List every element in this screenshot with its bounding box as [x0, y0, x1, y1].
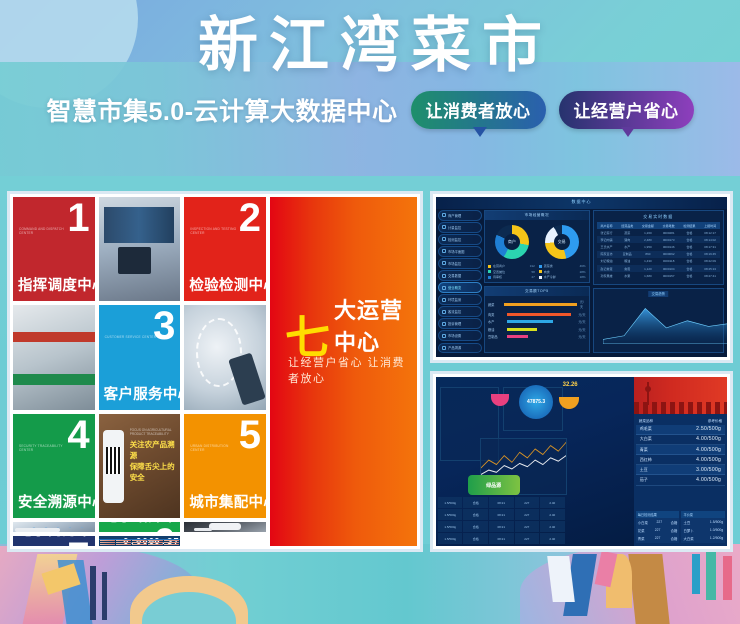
table-cell: 1.2/500g: [710, 536, 723, 541]
card-market-overview: 市场经营概况 商户 交易 在营商户312空置摊位58待审核27 蔬菜类46%肉类…: [484, 210, 590, 283]
grid-cell: 1.5/500g: [438, 509, 463, 520]
center-tile-6[interactable]: 6 ELECTRONIC SETTLEMENT CENTER 电子结算中心: [99, 522, 181, 532]
column-price: 参考价格: [708, 419, 722, 424]
table-row: 大白菜1.2/500g: [681, 534, 725, 542]
qr-caption: 关注农产品溯源 保障舌尖上的安全: [130, 439, 181, 484]
table-cell: 0000173: [659, 236, 679, 243]
center-tile-7[interactable]: 7 E-COMMERCE CENTER 电子商务中心: [13, 536, 95, 546]
detection-table: 每日检测结果 小白菜227合格花菜227合格青菜227合格: [636, 511, 680, 543]
badge-consumer: 让消费者放心: [411, 91, 546, 129]
menu-icon: [442, 310, 446, 314]
card-title: 市场经营概况: [485, 211, 589, 220]
table-cell: 0000281: [659, 229, 679, 236]
background-bottom: [0, 544, 740, 624]
menu-icon: [442, 322, 446, 326]
seven-subtitle: 让经营户省心 让消费者放心: [288, 354, 417, 386]
table-cell: 0000092: [659, 251, 679, 258]
price-table: 蔬菜品种 参考价格 鸡毛菜2.50/500g大白菜4.00/500g青菜4.00…: [636, 418, 725, 486]
dashboard-menu-item[interactable]: 市场监控: [438, 258, 482, 269]
grid-cell: 227: [515, 521, 540, 532]
tile-label: 客户服务中心: [104, 383, 181, 404]
decorative-shape: [692, 554, 700, 594]
top5-unit: 元/天: [580, 299, 586, 309]
data-table: 交易实时数据 商户名称经营品类交易金额交易笔数检测结果上报时间 张记菜行蔬菜1,…: [594, 211, 723, 284]
grid-cell: 227: [515, 497, 540, 508]
top5-name: 粮油: [488, 327, 504, 332]
dashboard-menu-item[interactable]: 营业概览: [438, 282, 482, 293]
grid-cell: 08:21: [489, 521, 514, 532]
donut-chart-merchants: 商户: [495, 225, 529, 259]
trend-sparkline: [603, 306, 727, 344]
legend-row: 肉类28%: [539, 270, 586, 274]
price-row: 土豆3.00/500g: [636, 465, 725, 475]
tile-label: 检验检测中心: [189, 274, 266, 295]
menu-icon: [442, 286, 446, 290]
table-cell: 合格: [671, 520, 678, 525]
menu-item-label: 检测监控: [448, 237, 461, 242]
legend-label: 待审核: [493, 275, 502, 279]
cheap-title: 平价菜: [681, 511, 725, 518]
table-cell: 土豆: [683, 520, 690, 525]
photo-command-center: [99, 197, 181, 301]
card-title: 交易额TOP5: [485, 287, 589, 296]
seven-centers-panel: 1 COMMAND AND DISPATCH CENTER 指挥调度中心 2 I…: [7, 191, 423, 552]
center-tile-5[interactable]: 5 URBAN DISTRIBUTION CENTER 城市集配中心: [184, 414, 266, 518]
grid-cell: 合格: [463, 521, 488, 532]
top5-row: 蔬菜元/天: [488, 299, 586, 309]
dashboard-right-region: 蔬菜品种 参考价格 鸡毛菜2.50/500g大白菜4.00/500g青菜4.00…: [634, 377, 727, 546]
menu-icon: [442, 274, 446, 278]
legend-swatch: [488, 276, 491, 279]
table-row: 土豆1.5/500g: [681, 518, 725, 526]
decorative-shape: [102, 572, 107, 620]
price-value: 2.50/500g: [696, 426, 721, 432]
table-column-header: 商户名称: [597, 222, 617, 229]
tile-english-label: CUSTOMER SERVICE CENTER: [105, 335, 157, 339]
price-row: 西红柿4.00/500g: [636, 455, 725, 465]
page-title: 新江湾菜市: [187, 14, 553, 79]
table-cell: 豆制品: [617, 251, 637, 258]
table-cell: 合格: [680, 243, 700, 250]
top5-unit: 元/天: [578, 319, 585, 324]
dashboard-menu-item[interactable]: 检测监控: [438, 234, 482, 245]
tile-english-label: INSPECTION AND TESTING CENTER: [190, 227, 242, 236]
card-trend-chart: 交易趋势: [593, 288, 724, 353]
legend-value: 312: [530, 264, 535, 268]
legend-label: 水产冷鲜: [544, 275, 556, 279]
dashboard-menu-item[interactable]: 环境监测: [438, 294, 482, 305]
menu-item-label: 营业概览: [448, 285, 461, 290]
metric-right-value: 32.26: [563, 382, 578, 388]
photo-qr-traceability: FOCUS ON AGRICULTURAL PRODUCT TRACEABILI…: [99, 414, 181, 518]
legend-value: 46%: [580, 264, 586, 268]
top5-row: 水产元/天: [488, 319, 586, 324]
photo-network-laptop: [13, 522, 95, 532]
legend-swatch: [488, 265, 491, 268]
tile-label: 安全溯源中心: [18, 491, 95, 512]
table-row: 陈家豆坊豆制品8600000092合格08:19:45: [597, 251, 720, 258]
table-row: 赵记禽蛋禽蛋1,1200000104合格08:25:13: [597, 265, 720, 272]
table-cell: 陈家豆坊: [597, 251, 617, 258]
dashboard-overview-screenshot: 数据中心 商户管理计量监控检测监控市场平面图市场监控交易数据营业概览环境监测客流…: [430, 191, 733, 363]
dashboard-menu-item[interactable]: 交易数据: [438, 270, 482, 281]
dashboard-menu-item[interactable]: 商户管理: [438, 210, 482, 221]
menu-icon: [442, 249, 446, 253]
tv-tower-icon: [647, 382, 649, 405]
table-row: 青菜227合格: [636, 534, 680, 542]
table-cell: 0000104: [659, 265, 679, 272]
legend-label: 空置摊位: [493, 270, 505, 274]
dashboard-menu-item[interactable]: 客流监控: [438, 306, 482, 317]
table-cell: 08:14:02: [700, 236, 720, 243]
table-cell: 08:19:45: [700, 251, 720, 258]
legend-label: 肉类: [544, 270, 550, 274]
table-cell: 1,430: [638, 258, 658, 265]
table-cell: 合格: [671, 536, 678, 541]
top5-name: 水产: [488, 319, 504, 324]
table-cell: 08:17:31: [700, 243, 720, 250]
legend-value: 27: [531, 275, 534, 279]
dashboard-menu-item[interactable]: 市场设置: [438, 330, 482, 341]
subtitle-row: 智慧市集5.0-云计算大数据中心 让消费者放心 让经营户省心: [46, 91, 693, 129]
grid-cell: 2.40: [540, 533, 565, 544]
legend-row: 空置摊位58: [488, 270, 535, 274]
menu-icon: [442, 237, 446, 241]
legend-row: 待审核27: [488, 275, 535, 279]
price-value: 4.00/500g: [696, 447, 721, 453]
card-realtime-table: 交易实时数据 商户名称经营品类交易金额交易笔数检测结果上报时间 张记菜行蔬菜1,…: [593, 210, 724, 285]
dashboard-title: 数据中心: [572, 199, 592, 205]
dashboard-menu-item[interactable]: 投诉管理: [438, 318, 482, 329]
legend-row: 水产冷鲜18%: [539, 275, 586, 279]
table-cell: 1.0/500g: [710, 528, 723, 533]
legend-swatch: [539, 270, 542, 273]
table-cell: 合格: [680, 251, 700, 258]
brand-logo: 绿品源: [468, 475, 520, 495]
detection-title: 每日检测结果: [636, 511, 680, 518]
price-name: 青菜: [640, 447, 648, 453]
center-tile-2[interactable]: 2 INSPECTION AND TESTING CENTER 检验检测中心: [184, 197, 266, 301]
center-tile-4[interactable]: 4 SECURITY TRACEABILITY CENTER 安全溯源中心: [13, 414, 95, 518]
table-cell: 860: [638, 251, 658, 258]
photo-market-shelf: [13, 305, 95, 409]
photo-packaging: [184, 522, 266, 532]
price-value: 3.00/500g: [696, 467, 721, 473]
table-cell: 李记肉铺: [597, 236, 617, 243]
table-row: 小白菜227合格: [636, 518, 680, 526]
donut-label: 商户: [495, 225, 529, 259]
table-body: 张记菜行蔬菜1,2600000281合格08:12:17李记肉铺猪肉2,4800…: [597, 229, 720, 279]
cheap-vegetable-table: 平价菜 土豆1.5/500g白萝卜1.0/500g大白菜1.2/500g: [681, 511, 725, 543]
menu-item-label: 市场监控: [448, 261, 461, 266]
table-cell: 1.5/500g: [710, 520, 723, 525]
table-column-header: 交易笔数: [659, 222, 679, 229]
table-cell: 花菜: [638, 528, 645, 533]
table-cell: 合格: [680, 236, 700, 243]
top5-unit: 元/天: [578, 334, 585, 339]
seven-centers-banner: 七 大运营中心 让经营户省心 让消费者放心: [270, 197, 417, 546]
dashboard-header: 数据中心: [436, 197, 727, 209]
menu-item-label: 环境监测: [448, 297, 461, 302]
grid-cell: 2.40: [540, 521, 565, 532]
menu-item-label: 产品溯源: [448, 345, 461, 350]
menu-item-label: 客流监控: [448, 309, 461, 314]
menu-item-label: 市场平面图: [448, 249, 464, 254]
table-cell: 合格: [680, 258, 700, 265]
price-row: 大白菜4.00/500g: [636, 435, 725, 445]
price-name: 西红柿: [640, 457, 652, 463]
decorative-shape: [628, 554, 669, 624]
table-cell: 0000118: [659, 258, 679, 265]
badge-merchant: 让经营户省心: [559, 91, 694, 129]
table-row: 张记菜行蔬菜1,2600000281合格08:12:17: [597, 229, 720, 236]
price-name: 大白菜: [640, 436, 652, 442]
table-cell: 合格: [680, 265, 700, 272]
table-cell: 1,680: [638, 272, 658, 279]
table-cell: 08:12:17: [700, 229, 720, 236]
center-tile-1[interactable]: 1 COMMAND AND DISPATCH CENTER 指挥调度中心: [13, 197, 95, 301]
legend-row: 蔬菜类46%: [539, 264, 586, 268]
table-cell: 张记菜行: [597, 229, 617, 236]
grid-cell: 08:21: [489, 509, 514, 520]
table-column-header: 交易金额: [638, 222, 658, 229]
price-value: 4.00/500g: [696, 457, 721, 463]
grid-cell: 08:21: [489, 533, 514, 544]
brand-logo-text: 绿品源: [486, 482, 501, 489]
menu-item-label: 投诉管理: [448, 321, 461, 326]
table-cell: 孙家果摊: [597, 272, 617, 279]
grid-cell: 合格: [463, 509, 488, 520]
decorative-shape: [90, 566, 96, 620]
table-cell: 猪肉: [617, 236, 637, 243]
table-column-header: 经营品类: [617, 222, 637, 229]
table-cell: 1,260: [638, 229, 658, 236]
legend-label: 蔬菜类: [544, 264, 553, 268]
table-cell: 08:22:09: [700, 258, 720, 265]
legend-value: 18%: [580, 275, 586, 279]
top5-bar: [507, 335, 528, 338]
table-title: 交易实时数据: [597, 214, 720, 220]
card-top5: 交易额TOP5 蔬菜元/天肉类元/天水产元/天粮油元/天豆制品元/天: [484, 286, 590, 353]
dashboard-menu-item[interactable]: 计量监控: [438, 222, 482, 233]
top5-unit: 元/天: [578, 312, 585, 317]
table-row: 李记肉铺猪肉2,4800000173合格08:14:02: [597, 236, 720, 243]
page-subtitle: 智慧市集5.0-云计算大数据中心: [46, 92, 397, 128]
menu-icon: [442, 298, 446, 302]
price-table-header: 蔬菜品种 参考价格: [636, 418, 725, 425]
dashboard-left-region: 47875.3 32.26 绿品源 1.5/500g合格08:212272.40…: [436, 377, 634, 546]
table-cell: 王氏水产: [597, 243, 617, 250]
tile-number: 3: [153, 306, 175, 346]
top5-bar: [507, 320, 553, 323]
grid-cell: 合格: [463, 533, 488, 544]
decorative-shape: [706, 552, 716, 600]
table-cell: 刘记粮油: [597, 258, 617, 265]
dashboard-prices-screenshot: 47875.3 32.26 绿品源 1.5/500g合格08:212272.40…: [430, 371, 733, 552]
dashboard-menu-item[interactable]: 市场平面图: [438, 246, 482, 257]
price-row: 鸡毛菜2.50/500g: [636, 425, 725, 435]
table-row: 孙家果摊水果1,6800000157合格08:27:41: [597, 272, 720, 279]
legend-label: 在营商户: [493, 264, 505, 268]
grid-cell: 1.5/500g: [438, 533, 463, 544]
turnover-value: 47875.3: [527, 399, 545, 405]
table-row: 刘记粮油粮油1,4300000118合格08:22:09: [597, 258, 720, 265]
legend-merchants: 在营商户312空置摊位58待审核27: [488, 264, 535, 279]
secondary-tables: 每日检测结果 小白菜227合格花菜227合格青菜227合格 平价菜 土豆1.5/…: [636, 511, 725, 543]
top5-row: 粮油元/天: [488, 327, 586, 332]
legend-value: 28%: [580, 270, 586, 274]
dashboard-menu-item[interactable]: 产品溯源: [438, 343, 482, 354]
city-skyline-banner: [634, 377, 727, 414]
photo-pos-terminal: 0.000 0.370: [99, 536, 181, 546]
seven-number: 七: [285, 319, 330, 357]
table-cell: 08:27:41: [700, 272, 720, 279]
menu-icon: [442, 334, 446, 338]
menu-item-label: 商户管理: [448, 213, 461, 218]
dashboard-sidebar: 商户管理计量监控检测监控市场平面图市场监控交易数据营业概览环境监测客流监控投诉管…: [438, 210, 482, 353]
top5-row: 豆制品元/天: [488, 334, 586, 339]
decorative-shape: [723, 556, 732, 600]
donut-label: 交易: [545, 225, 579, 259]
table-cell: 合格: [680, 229, 700, 236]
menu-item-label: 计量监控: [448, 225, 461, 230]
price-value: 4.00/500g: [696, 436, 721, 442]
menu-icon: [442, 346, 446, 350]
area-chart: 交易趋势: [594, 289, 723, 352]
top5-bar: [507, 328, 537, 331]
table-cell: 227: [655, 536, 661, 541]
table-cell: 青菜: [638, 536, 645, 541]
table-column-header: 检测结果: [680, 222, 700, 229]
table-cell: 227: [655, 528, 661, 533]
donut-chart-transactions: 交易: [545, 225, 579, 259]
grid-cell: 合格: [463, 497, 488, 508]
tile-label: 电子商务中心: [18, 536, 95, 540]
price-row: 茄子4.00/500g: [636, 475, 725, 485]
legend-value: 58: [531, 270, 534, 274]
price-row: 青菜4.00/500g: [636, 445, 725, 455]
price-name: 鸡毛菜: [640, 426, 652, 432]
price-name: 茄子: [640, 477, 648, 483]
table-cell: 合格: [671, 528, 678, 533]
centers-grid: 1 COMMAND AND DISPATCH CENTER 指挥调度中心 2 I…: [13, 197, 266, 546]
tile-label: 电子结算中心: [104, 522, 181, 526]
grid-cell: 1.5/500g: [438, 521, 463, 532]
menu-icon: [442, 261, 446, 265]
photo-iot-phone: [184, 305, 266, 409]
table-cell: 水果: [617, 272, 637, 279]
table-cell: 1,120: [638, 265, 658, 272]
poster-header: 新江湾菜市 智慧市集5.0-云计算大数据中心 让消费者放心 让经营户省心: [0, 0, 740, 186]
table-cell: 小白菜: [638, 520, 648, 525]
table-cell: 1,950: [638, 243, 658, 250]
pos-product-grid: [100, 540, 178, 546]
top5-bar: [507, 313, 571, 316]
menu-icon: [442, 213, 446, 217]
grid-cell: 227: [515, 509, 540, 520]
legend-swatch: [539, 276, 542, 279]
table-cell: 合格: [680, 272, 700, 279]
menu-item-label: 市场设置: [448, 333, 461, 338]
table-cell: 水产: [617, 243, 637, 250]
table-row: 白萝卜1.0/500g: [681, 526, 725, 534]
chart-title: 交易趋势: [649, 291, 669, 297]
table-column-header: 上报时间: [700, 222, 720, 229]
top5-row: 肉类元/天: [488, 312, 586, 317]
table-cell: 蔬菜: [617, 229, 637, 236]
table-cell: 禽蛋: [617, 265, 637, 272]
legend-swatch: [488, 270, 491, 273]
menu-icon: [442, 225, 446, 229]
table-cell: 2,480: [638, 236, 658, 243]
table-cell: 大白菜: [683, 536, 693, 541]
price-value: 4.00/500g: [696, 477, 721, 483]
top5-name: 肉类: [488, 312, 504, 317]
top5-name: 蔬菜: [488, 302, 501, 307]
center-tile-3[interactable]: 3 CUSTOMER SERVICE CENTER 客户服务中心: [99, 305, 181, 409]
grid-cell: 2.40: [540, 509, 565, 520]
tile-label: 指挥调度中心: [18, 274, 95, 295]
grid-cell: 1.5/500g: [438, 497, 463, 508]
tile-english-label: URBAN DISTRIBUTION CENTER: [190, 444, 242, 453]
transaction-grid: 1.5/500g合格08:212272.401.5/500g合格08:21227…: [438, 497, 565, 544]
table-cell: 227: [656, 520, 662, 525]
table-cell: 08:25:13: [700, 265, 720, 272]
table-row: 王氏水产水产1,9500000146合格08:17:31: [597, 243, 720, 250]
table-cell: 白萝卜: [683, 528, 693, 533]
tile-english-label: COMMAND AND DISPATCH CENTER: [19, 227, 71, 236]
table-cell: 赵记禽蛋: [597, 265, 617, 272]
grid-cell: 08:21: [489, 497, 514, 508]
tile-english-label: SECURITY TRACEABILITY CENTER: [19, 444, 71, 453]
tile-label: 城市集配中心: [189, 491, 266, 512]
legend-swatch: [539, 265, 542, 268]
top5-name: 豆制品: [488, 334, 504, 339]
column-name: 蔬菜品种: [639, 419, 653, 424]
table-cell: 粮油: [617, 258, 637, 265]
table-cell: 0000157: [659, 272, 679, 279]
menu-item-label: 交易数据: [448, 273, 461, 278]
top5-bar: [504, 303, 577, 306]
top5-list: 蔬菜元/天肉类元/天水产元/天粮油元/天豆制品元/天: [485, 296, 589, 352]
table-cell: 0000146: [659, 243, 679, 250]
grid-cell: 227: [515, 533, 540, 544]
legend-row: 在营商户312: [488, 264, 535, 268]
table-header-row: 商户名称经营品类交易金额交易笔数检测结果上报时间: [597, 222, 720, 229]
grid-cell: 2.40: [540, 497, 565, 508]
price-name: 土豆: [640, 467, 648, 473]
top5-unit: 元/天: [578, 327, 585, 332]
legend-transactions: 蔬菜类46%肉类28%水产冷鲜18%: [539, 264, 586, 279]
table-row: 花菜227合格: [636, 526, 680, 534]
seven-title: 大运营中心: [334, 293, 417, 357]
qr-english-caption: FOCUS ON AGRICULTURAL PRODUCT TRACEABILI…: [130, 428, 181, 436]
